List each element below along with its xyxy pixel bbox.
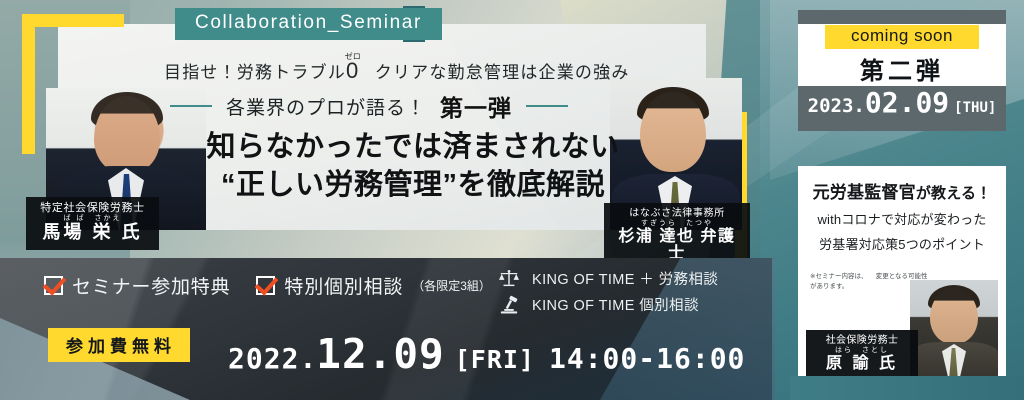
collaboration-seminar-label: Collaboration_Seminar: [175, 8, 442, 40]
event-year: 2022: [228, 342, 299, 375]
subtitle-zero-value: 0: [345, 58, 361, 83]
photo-head: [930, 288, 978, 344]
coming-soon-badge: coming soon: [825, 25, 979, 49]
gavel-icon: [498, 295, 520, 315]
speaker-role: 特定社会保険労務士: [38, 202, 147, 214]
banner-subtitle: 目指せ！労務トラブル0ゼロクリアな勤怠管理は企業の強み: [164, 52, 684, 84]
nameplate-speaker-1: 特定社会保険労務士 ば ば さかえ 馬場 栄 氏: [26, 197, 159, 250]
topic-heading-strong: 元労基監督官: [813, 183, 916, 202]
perks-row: セミナー参加特典 特別個別相談 （各限定3組）: [44, 272, 491, 299]
topic-line-1: withコロナで対応が変わった: [808, 209, 996, 228]
headline-line-1: 知らなかったでは済まされない: [178, 128, 648, 166]
banner-volume: 第一弾: [440, 89, 512, 123]
photo-head: [640, 92, 706, 172]
next-date-day-of-week: [THU]: [954, 100, 996, 116]
photo-head: [94, 96, 160, 174]
topic-line-2: 労基署対応策5つのポイント: [808, 234, 996, 253]
subtitle-zero-ruby: ゼロ: [345, 52, 361, 61]
perk-item: セミナー参加特典: [44, 272, 230, 299]
speaker-name: 原 諭 氏: [818, 355, 906, 373]
event-day-of-week: [FRI]: [455, 345, 535, 374]
scales-of-justice-icon: [498, 269, 520, 289]
sidebar-next-date: 2023 . 02.09 [THU]: [798, 86, 1006, 131]
offer-text: KING OF TIME ＋ 労務相談: [532, 268, 718, 289]
offer-item: KING OF TIME ＋ 労務相談: [498, 268, 718, 289]
speaker-name: 馬場 栄 氏: [38, 223, 147, 243]
speaker-ruby: すぎうら たつや: [616, 220, 738, 228]
free-admission-badge: 参加費無料: [48, 328, 190, 362]
seminar-banner: Collaboration_Seminar 目指せ！労務トラブル0ゼロクリアな勤…: [0, 0, 1024, 400]
subtitle-prefix: 目指せ！労務トラブル: [164, 63, 346, 82]
rule-left-icon: [170, 105, 212, 107]
perk-label: 特別個別相談: [284, 272, 403, 299]
speaker-role: 社会保険労務士: [818, 335, 906, 346]
speaker-role: はなぶさ法律事務所: [616, 208, 738, 219]
offers-list: KING OF TIME ＋ 労務相談 KING OF TIME 個別相談: [498, 268, 718, 315]
speaker-photo-hara: [910, 280, 998, 376]
next-date-separator: .: [853, 95, 864, 117]
subtitle-suffix: クリアな勤怠管理は企業の強み: [375, 63, 630, 82]
perk-label: セミナー参加特典: [72, 272, 230, 299]
topic-heading-rest: が教える！: [916, 185, 992, 202]
checkbox-checked-icon: [44, 276, 63, 295]
event-time: 14:00-16:00: [549, 342, 745, 375]
headline-line-2: “正しい労務管理”を徹底解説: [178, 166, 648, 204]
offer-text: KING OF TIME 個別相談: [532, 294, 699, 315]
perk-note: （各限定3組）: [412, 277, 491, 294]
perk-item: 特別個別相談 （各限定3組）: [256, 272, 491, 299]
sidebar-coming-soon-block: coming soon 第二弾: [798, 24, 1006, 86]
sidebar-top-strip: [798, 10, 1006, 24]
rule-right-icon: [526, 105, 568, 107]
subtitle-zero: 0ゼロ: [346, 63, 361, 82]
nameplate-speaker-3: 社会保険労務士 はら さとし 原 諭 氏: [806, 330, 918, 379]
speaker-ruby: はら さとし: [818, 347, 906, 355]
banner-tagline: 各業界のプロが語る！: [226, 93, 426, 120]
banner-tagline-row: 各業界のプロが語る！ 第一弾: [170, 89, 590, 123]
event-month-day: 12.09: [316, 330, 444, 378]
offer-item: KING OF TIME 個別相談: [498, 294, 718, 315]
next-date-month-day: 02.09: [865, 86, 949, 119]
next-date-year: 2023: [808, 95, 854, 117]
page-title: 知らなかったでは済まされない “正しい労務管理”を徹底解説: [178, 128, 648, 205]
sidebar-bottom-strip: [790, 376, 1024, 400]
topic-heading: 元労基監督官が教える！: [808, 178, 996, 203]
checkbox-checked-icon: [256, 276, 275, 295]
event-date-separator: .: [299, 342, 316, 375]
event-datetime: 2022 . 12.09 [FRI] 14:00-16:00: [228, 330, 745, 378]
sidebar-volume: 第二弾: [860, 51, 944, 86]
